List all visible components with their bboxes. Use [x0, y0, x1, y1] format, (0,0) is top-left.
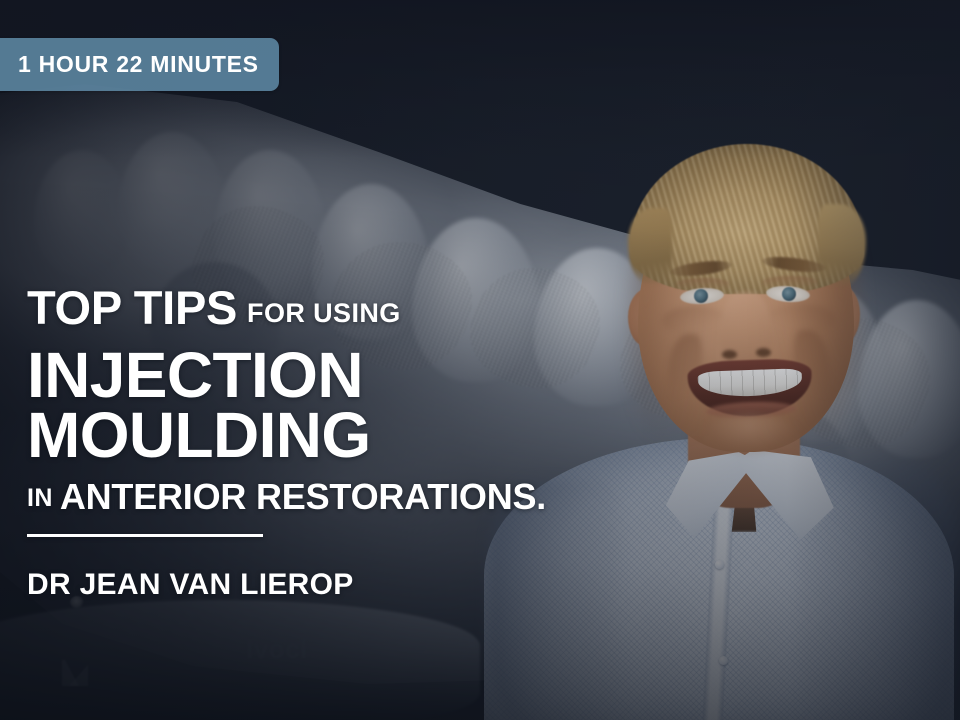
headline-injection: INJECTION: [27, 345, 567, 405]
course-title-slide: Ivocl: [0, 0, 960, 720]
duration-badge-label: 1 HOUR 22 MINUTES: [18, 51, 259, 78]
title-divider: [27, 534, 263, 537]
headline-line-1: TOP TIPSFOR USING: [27, 283, 567, 345]
presenter-name: DR JEAN VAN LIEROP: [27, 568, 354, 602]
headline-for-using: FOR USING: [247, 298, 401, 328]
headline-moulding: MOULDING: [27, 405, 567, 465]
headline-in-prefix: IN: [27, 484, 53, 512]
headline-anterior-restorations: ANTERIOR RESTORATIONS.: [60, 476, 546, 517]
headline-top-tips: TOP TIPS: [27, 281, 237, 334]
headline-line-4: INANTERIOR RESTORATIONS.: [27, 477, 567, 525]
slide-headline: TOP TIPSFOR USING INJECTION MOULDING INA…: [27, 283, 567, 525]
duration-badge: 1 HOUR 22 MINUTES: [0, 38, 279, 91]
